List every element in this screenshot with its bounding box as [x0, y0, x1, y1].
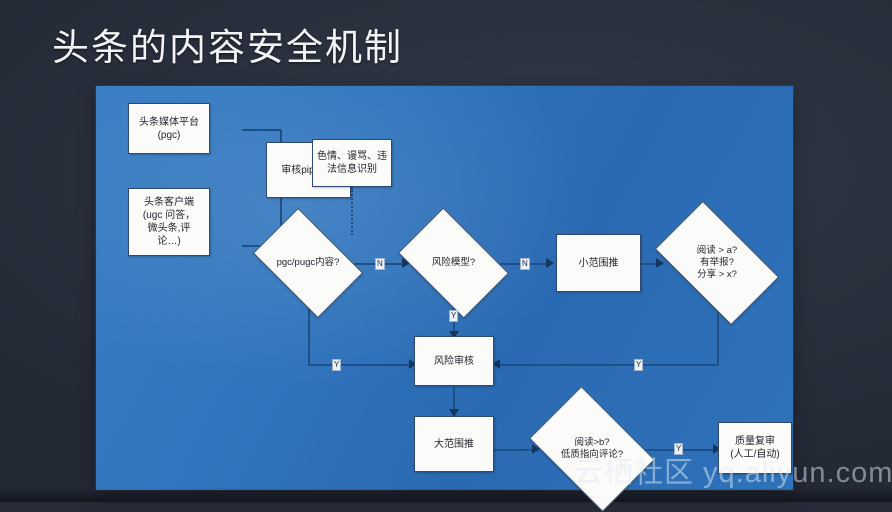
node-small-push-label: 小范围推 — [579, 257, 619, 270]
node-ugc-client-line3: 微头条,评 — [148, 222, 191, 235]
node-quality-recheck-line1: 质量复审 — [735, 435, 775, 448]
node-big-push-label: 大范围推 — [434, 438, 474, 451]
edge-label-y1: Y — [332, 359, 341, 371]
node-risk-model-label: 风险模型? — [407, 231, 500, 295]
node-risk-model[interactable]: 风险模型? — [407, 231, 500, 295]
node-small-push[interactable]: 小范围推 — [556, 234, 641, 292]
edge-label-y3: Y — [634, 359, 643, 371]
edge-pgc-out — [242, 129, 281, 131]
node-quality-recheck[interactable]: 质量复审 (人工/自动) — [718, 422, 792, 474]
node-read-gate-b[interactable]: 阅读>b? 低质指向评论? — [540, 412, 644, 486]
node-read-gate-a[interactable]: 阅读 > a? 有举报? 分享 > x? — [663, 229, 771, 297]
node-read-gate-a-text: 阅读 > a? 有举报? 分享 > x? — [663, 229, 771, 297]
edge-label-n2: N — [520, 258, 530, 270]
node-ugc-client-line4: 论…) — [157, 235, 180, 248]
flowchart-panel: 头条媒体平台 (pgc) 头条客户端 (ugc 问答， 微头条,评 论…) 审核… — [96, 86, 793, 490]
node-read-gate-a-line3: 分享 > x? — [697, 269, 737, 281]
node-illegal-detect[interactable]: 色情、谩骂、违 法信息识别 — [312, 139, 392, 187]
node-quality-recheck-line2: (人工/自动) — [730, 448, 779, 461]
node-read-gate-b-line1: 阅读>b? — [574, 437, 609, 449]
node-ugc-client-line1: 头条客户端 — [144, 196, 194, 209]
node-read-gate-b-text: 阅读>b? 低质指向评论? — [540, 412, 644, 486]
node-risk-review-label: 风险审核 — [434, 355, 474, 368]
edge-pgc-rail-y — [308, 364, 413, 366]
node-pgc-platform[interactable]: 头条媒体平台 (pgc) — [128, 103, 210, 154]
edge-bigpush-to-gateb — [494, 449, 536, 451]
node-pgc-platform-line2: (pgc) — [158, 129, 181, 142]
edge-label-y4: Y — [674, 443, 683, 455]
node-big-push[interactable]: 大范围推 — [414, 416, 494, 472]
slide-canvas: 头条的内容安全机制 — [0, 0, 892, 502]
edge-label-n1: N — [375, 258, 385, 270]
node-ugc-client-line2: (ugc 问答， — [143, 209, 195, 222]
node-illegal-detect-line2: 法信息识别 — [327, 163, 377, 176]
page-title: 头条的内容安全机制 — [52, 26, 403, 70]
node-ugc-client[interactable]: 头条客户端 (ugc 问答， 微头条,评 论…) — [128, 188, 210, 256]
node-illegal-detect-line1: 色情、谩骂、违 — [317, 150, 387, 163]
edge-gatea-rail-y — [494, 364, 718, 366]
edge-illegal-dotted — [351, 187, 353, 235]
arrowhead-smallpush — [546, 258, 554, 268]
node-read-gate-a-line2: 有举报? — [700, 257, 734, 269]
edge-label-y2: Y — [449, 310, 458, 322]
node-is-pgc-pugc[interactable]: pgc/pugc内容? — [262, 231, 354, 295]
node-pgc-platform-line1: 头条媒体平台 — [139, 116, 199, 129]
node-read-gate-b-line2: 低质指向评论? — [561, 449, 623, 461]
node-is-pgc-pugc-label: pgc/pugc内容? — [262, 231, 354, 295]
node-read-gate-a-line1: 阅读 > a? — [697, 245, 737, 257]
node-risk-review[interactable]: 风险审核 — [414, 336, 494, 386]
